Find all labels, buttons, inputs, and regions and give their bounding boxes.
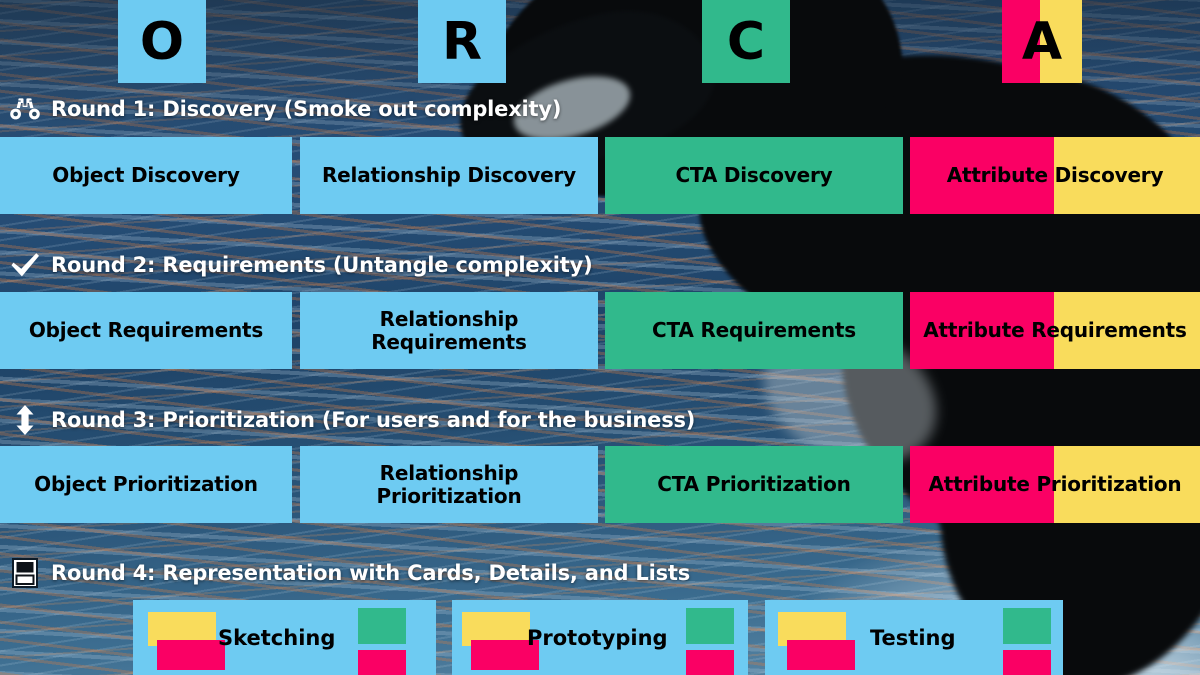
test-green-swatch xyxy=(1003,608,1051,644)
test-pink-swatch xyxy=(787,640,855,670)
sketch-pink-swatch-2 xyxy=(358,650,406,675)
binoculars-icon xyxy=(10,94,40,124)
acronym-letter-c: C xyxy=(702,0,790,83)
round-3-header: Round 3: Prioritization (For users and f… xyxy=(10,404,695,436)
cell-label: Attribute Discovery xyxy=(941,164,1170,186)
cell-label: CTA Requirements xyxy=(646,319,862,341)
cell-label: CTA Prioritization xyxy=(651,473,856,495)
round-2-title: Round 2: Requirements (Untangle complexi… xyxy=(51,253,593,277)
round-2-header: Round 2: Requirements (Untangle complexi… xyxy=(10,249,593,281)
chip-sketching[interactable]: Sketching xyxy=(133,600,436,675)
cell-label: Object Discovery xyxy=(46,164,245,186)
sketch-pink-swatch xyxy=(157,640,225,670)
cell-object-discovery[interactable]: Object Discovery xyxy=(0,137,292,214)
acronym-letter-o-glyph: O xyxy=(140,16,184,68)
acronym-letter-a-glyph: A xyxy=(1022,16,1062,68)
chip-testing[interactable]: Testing xyxy=(765,600,1063,675)
slide-content: O R C A Round 1: Discovery (Smoke xyxy=(0,0,1200,675)
chip-label: Testing xyxy=(870,626,956,650)
cell-relationship-requirements[interactable]: Relationship Requirements xyxy=(300,292,598,369)
cell-cta-discovery[interactable]: CTA Discovery xyxy=(605,137,903,214)
chip-label: Prototyping xyxy=(527,626,668,650)
cell-label: Relationship Prioritization xyxy=(300,462,598,507)
cell-label: Attribute Prioritization xyxy=(923,473,1188,495)
acronym-letter-r: R xyxy=(418,0,506,83)
round-1-header: Round 1: Discovery (Smoke out complexity… xyxy=(10,93,561,125)
test-pink-swatch-2 xyxy=(1003,650,1051,675)
cell-label: CTA Discovery xyxy=(669,164,838,186)
cell-object-prioritization[interactable]: Object Prioritization xyxy=(0,446,292,523)
cell-cta-requirements[interactable]: CTA Requirements xyxy=(605,292,903,369)
cell-label: Relationship Discovery xyxy=(316,164,582,186)
cell-label: Object Prioritization xyxy=(28,473,264,495)
cell-relationship-prioritization[interactable]: Relationship Prioritization xyxy=(300,446,598,523)
proto-pink-swatch-2 xyxy=(686,650,734,675)
up-down-arrow-icon xyxy=(10,405,40,435)
acronym-letter-c-glyph: C xyxy=(727,16,765,68)
round-3-title: Round 3: Prioritization (For users and f… xyxy=(51,408,695,432)
card-layout-icon xyxy=(10,558,40,588)
round-1-title: Round 1: Discovery (Smoke out complexity… xyxy=(51,97,561,121)
cell-attribute-prioritization[interactable]: Attribute Prioritization xyxy=(910,446,1200,523)
cell-cta-prioritization[interactable]: CTA Prioritization xyxy=(605,446,903,523)
proto-green-swatch xyxy=(686,608,734,644)
round-4-title: Round 4: Representation with Cards, Deta… xyxy=(51,561,690,585)
cell-label: Object Requirements xyxy=(23,319,269,341)
acronym-letter-o: O xyxy=(118,0,206,83)
cell-label: Relationship Requirements xyxy=(300,308,598,353)
acronym-letter-a: A xyxy=(1002,0,1082,83)
chip-label: Sketching xyxy=(218,626,335,650)
check-icon xyxy=(10,250,40,280)
sketch-green-swatch xyxy=(358,608,406,644)
cell-attribute-discovery[interactable]: Attribute Discovery xyxy=(910,137,1200,214)
cell-attribute-requirements[interactable]: Attribute Requirements xyxy=(910,292,1200,369)
chip-prototyping[interactable]: Prototyping xyxy=(452,600,748,675)
round-4-header: Round 4: Representation with Cards, Deta… xyxy=(10,557,690,589)
cell-label: Attribute Requirements xyxy=(917,319,1192,341)
cell-relationship-discovery[interactable]: Relationship Discovery xyxy=(300,137,598,214)
slide-canvas: O R C A Round 1: Discovery (Smoke xyxy=(0,0,1200,675)
cell-object-requirements[interactable]: Object Requirements xyxy=(0,292,292,369)
acronym-letter-r-glyph: R xyxy=(442,16,482,68)
